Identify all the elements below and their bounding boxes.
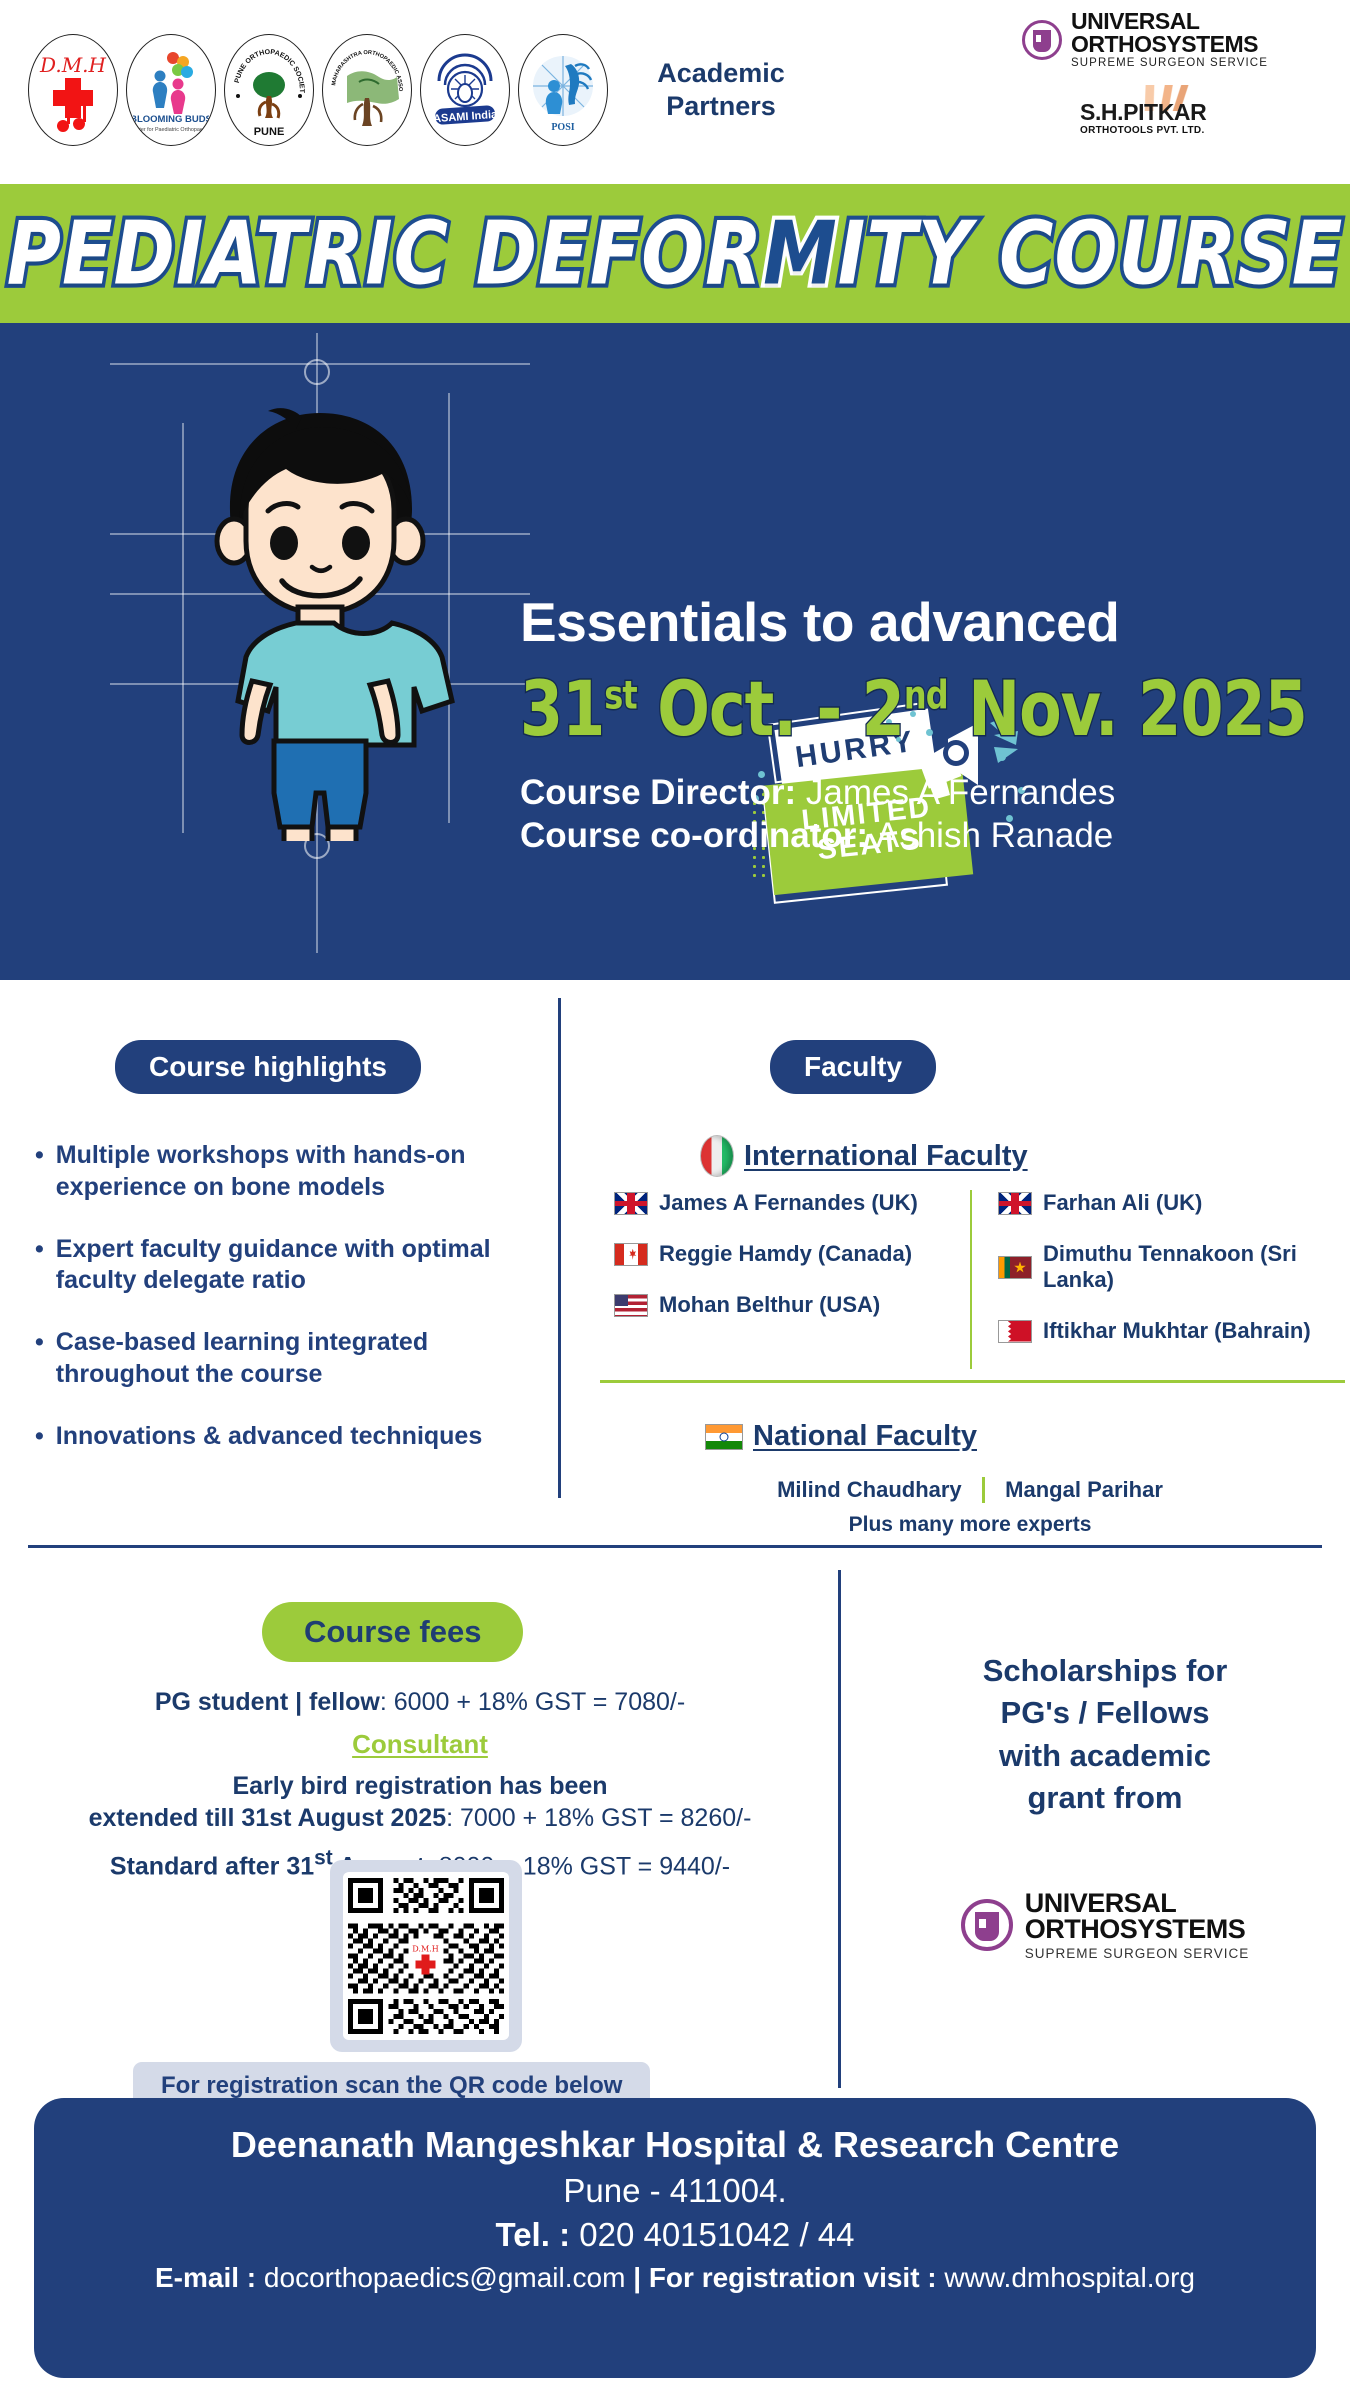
- svg-text:Center for Paediatric Orthopae: Center for Paediatric Orthopaedics: [133, 127, 209, 133]
- scholarship-text: Scholarships for PG's / Fellows with aca…: [880, 1650, 1330, 1820]
- highlight-text: Case-based learning integrated throughou…: [56, 1327, 545, 1391]
- middle-section: Course highlights • Multiple workshops w…: [0, 980, 1350, 1535]
- footer-email-value[interactable]: docorthopaedics@gmail.com: [264, 2262, 625, 2293]
- fee-line-earlybird: Early bird registration has been extende…: [20, 1770, 820, 1835]
- pitkar-logo: S.H.PITKAR ORTHOTOOLS PVT. LTD.: [1022, 85, 1322, 141]
- faculty-row: Dimuthu Tennakoon (Sri Lanka): [998, 1241, 1340, 1293]
- pune-orthopaedic-society-logo: PUNE ORTHOPAEDIC SOCIETY PUNE: [224, 34, 314, 146]
- academic-partners-label: Academic Partners: [646, 57, 796, 123]
- faculty-name: Iftikhar Mukhtar (Bahrain): [1043, 1318, 1311, 1344]
- date-sup1: st: [604, 672, 636, 718]
- posi-logo: POSI: [518, 34, 608, 146]
- footer-tel-label: Tel. :: [496, 2216, 571, 2253]
- page-title-part2: ITY COURSE: [838, 203, 1344, 304]
- academic-partners-line1: Academic: [646, 57, 796, 90]
- international-faculty-heading: International Faculty: [744, 1140, 1028, 1173]
- faculty-heading: Faculty: [770, 1040, 936, 1094]
- faculty-row: Iftikhar Mukhtar (Bahrain): [998, 1318, 1340, 1344]
- blooming-buds-logo-art: BLOOMING BUDS Center for Paediatric Orth…: [133, 42, 209, 138]
- partner-bar: D.M.H BLOOMING BUDS Center for Paediatri…: [0, 0, 1350, 180]
- national-faculty-heading-wrap: National Faculty: [705, 1420, 977, 1453]
- course-director-name: James A Fernandes: [806, 773, 1115, 812]
- universal-line1: UNIVERSAL: [1071, 10, 1268, 33]
- child-illustration: [170, 391, 470, 846]
- title-banner: PEDIATRIC DEFORMITY COURSE: [0, 184, 1350, 323]
- pune-orthopaedic-society-logo-art: PUNE ORTHOPAEDIC SOCIETY PUNE: [228, 40, 310, 140]
- universal-tagline: SUPREME SURGEON SERVICE: [1071, 57, 1268, 69]
- svg-text:BLOOMING BUDS: BLOOMING BUDS: [133, 114, 209, 125]
- maharashtra-orthopaedic-association-logo-art: MAHARASHTRA ORTHOPAEDIC ASSOCIATION: [327, 42, 407, 138]
- bullet-icon: •: [35, 1234, 44, 1298]
- fee-earlybird-label: extended till 31st August 2025: [89, 1804, 447, 1832]
- bullet-icon: •: [35, 1327, 44, 1391]
- scholarship-line1: Scholarships for: [880, 1650, 1330, 1692]
- date-month1: Oct. -: [657, 664, 862, 753]
- bullet-icon: •: [35, 1140, 44, 1204]
- fee-line-pg: PG student | fellow: 6000 + 18% GST = 70…: [20, 1686, 820, 1719]
- faculty-row: James A Fernandes (UK): [614, 1190, 970, 1216]
- international-faculty-col-left: James A Fernandes (UK) Reggie Hamdy (Can…: [600, 1190, 970, 1369]
- blooming-buds-logo: BLOOMING BUDS Center for Paediatric Orth…: [126, 34, 216, 146]
- faculty-heading-wrap: Faculty: [770, 1040, 936, 1094]
- course-coordinator-row: Course co-ordinator: Ashish Ranade: [520, 814, 1340, 857]
- course-director-row: Course Director: James A Fernandes: [520, 771, 1340, 814]
- posi-logo-art: POSI: [523, 42, 603, 138]
- footer-separator: |: [633, 2262, 641, 2293]
- footer-tel-row: Tel. : 020 40151042 / 44: [34, 2216, 1316, 2254]
- faculty-name: Reggie Hamdy (Canada): [659, 1241, 912, 1267]
- footer-city: Pune - 411004.: [34, 2172, 1316, 2210]
- highlight-text: Expert faculty guidance with optimal fac…: [56, 1234, 545, 1298]
- date-day2: 2: [862, 664, 904, 753]
- faculty-green-divider: [600, 1380, 1345, 1383]
- fees-top-divider: [28, 1545, 1322, 1548]
- date-day1: 31: [520, 664, 604, 753]
- sponsor-line2: ORTHOSYSTEMS: [1025, 1916, 1250, 1942]
- fees-vertical-divider: [838, 1570, 841, 2088]
- international-faculty-grid: James A Fernandes (UK) Reggie Hamdy (Can…: [600, 1190, 1340, 1369]
- page-title-accent: M: [763, 203, 838, 304]
- qr-code-art: D.M.H: [343, 1872, 509, 2040]
- sri-lanka-flag-icon: [998, 1256, 1032, 1279]
- faculty-row: Reggie Hamdy (Canada): [614, 1241, 970, 1267]
- sponsor-tagline: SUPREME SURGEON SERVICE: [1025, 1946, 1250, 1961]
- international-faculty-col-right: Farhan Ali (UK) Dimuthu Tennakoon (Sri L…: [970, 1190, 1340, 1369]
- course-highlights-heading-wrap: Course highlights: [115, 1040, 421, 1094]
- faculty-name: Mohan Belthur (USA): [659, 1292, 880, 1318]
- national-faculty-names: Milind Chaudhary Mangal Parihar: [600, 1477, 1340, 1503]
- bullet-icon: •: [35, 1421, 44, 1453]
- universal-orthosystems-mark-icon: [1022, 20, 1062, 60]
- highlight-text: Multiple workshops with hands-on experie…: [56, 1140, 545, 1204]
- globe-flags-icon: [700, 1135, 734, 1177]
- national-faculty-note: Plus many more experts: [600, 1513, 1340, 1537]
- fee-consultant-label: Consultant: [20, 1729, 820, 1760]
- hero-tagline: Essentials to advanced: [520, 595, 1340, 650]
- fee-earlybird-line1: Early bird registration has been: [232, 1772, 607, 1800]
- uk-flag-icon: [614, 1192, 648, 1215]
- svg-text:D.M.H: D.M.H: [412, 1944, 439, 1953]
- footer-contact-block: Deenanath Mangeshkar Hospital & Research…: [34, 2098, 1316, 2378]
- middle-divider: [558, 998, 561, 1498]
- highlight-text: Innovations & advanced techniques: [56, 1421, 482, 1453]
- highlight-item: • Case-based learning integrated through…: [35, 1327, 545, 1391]
- national-faculty-name: Mangal Parihar: [1005, 1477, 1163, 1503]
- course-highlights-heading: Course highlights: [115, 1040, 421, 1094]
- scholarship-line3: with academic: [880, 1735, 1330, 1777]
- universal-orthosystems-logo: UNIVERSAL ORTHOSYSTEMS SUPREME SURGEON S…: [1022, 10, 1322, 69]
- maharashtra-orthopaedic-association-logo: MAHARASHTRA ORTHOPAEDIC ASSOCIATION: [322, 34, 412, 146]
- dmh-logo: D.M.H: [28, 34, 118, 146]
- page-title-part1: PEDIATRIC DEFOR: [7, 203, 763, 304]
- faculty-name: Farhan Ali (UK): [1043, 1190, 1202, 1216]
- footer-email-label: E-mail :: [155, 2262, 256, 2293]
- footer-email-row: E-mail : docorthopaedics@gmail.com | For…: [34, 2262, 1316, 2294]
- sponsor-logos: UNIVERSAL ORTHOSYSTEMS SUPREME SURGEON S…: [1022, 10, 1322, 141]
- national-faculty-heading: National Faculty: [753, 1420, 977, 1453]
- scholarship-sponsor-logo: UNIVERSAL ORTHOSYSTEMS SUPREME SURGEON S…: [880, 1890, 1330, 1961]
- date-sup2: nd: [904, 672, 948, 718]
- uk-flag-icon: [998, 1192, 1032, 1215]
- course-highlights-list: • Multiple workshops with hands-on exper…: [35, 1140, 545, 1482]
- scholarship-line2: PG's / Fellows: [880, 1692, 1330, 1734]
- asami-india-logo-art: ASAMI India: [425, 41, 505, 139]
- svg-text:D.M.H: D.M.H: [39, 53, 107, 77]
- bahrain-flag-icon: [998, 1320, 1032, 1343]
- date-month2: Nov. 2025: [968, 664, 1307, 753]
- scholarship-line4: grant from: [880, 1777, 1330, 1819]
- footer-hospital-name: Deenanath Mangeshkar Hospital & Research…: [34, 2124, 1316, 2166]
- india-flag-icon: [705, 1424, 743, 1450]
- sponsor-line1: UNIVERSAL: [1025, 1890, 1250, 1916]
- faculty-row: Farhan Ali (UK): [998, 1190, 1340, 1216]
- universal-orthosystems-mark-icon: [961, 1899, 1013, 1951]
- faculty-name: Dimuthu Tennakoon (Sri Lanka): [1043, 1241, 1340, 1293]
- name-separator: [982, 1477, 986, 1503]
- international-faculty-heading-wrap: International Faculty: [700, 1135, 1028, 1177]
- faculty-row: Mohan Belthur (USA): [614, 1292, 970, 1318]
- course-director-label: Course Director:: [520, 773, 796, 812]
- child-illustration-art: [170, 391, 470, 841]
- fee-earlybird-value: : 7000 + 18% GST = 8260/-: [446, 1804, 751, 1832]
- dmh-logo-art: D.M.H: [36, 42, 110, 138]
- fee-standard-sup: st: [314, 1847, 333, 1870]
- course-dates: 31st Oct. - 2nd Nov. 2025: [520, 664, 1340, 753]
- course-coordinator-label: Course co-ordinator:: [520, 816, 868, 855]
- svg-text:PUNE: PUNE: [254, 126, 285, 138]
- hero-section: HURRY LIMITED SEATS E: [0, 323, 1350, 980]
- usa-flag-icon: [614, 1294, 648, 1317]
- pitkar-line1: S.H.PITKAR: [1080, 99, 1206, 126]
- qr-code-card[interactable]: D.M.H: [330, 1860, 522, 2052]
- footer-web-value[interactable]: www.dmhospital.org: [944, 2262, 1195, 2293]
- page-title: PEDIATRIC DEFORMITY COURSE: [7, 203, 1344, 304]
- hero-copy: Essentials to advanced 31st Oct. - 2nd N…: [520, 595, 1340, 858]
- pitkar-line2: ORTHOTOOLS PVT. LTD.: [1080, 125, 1205, 136]
- course-fees-heading: Course fees: [262, 1602, 523, 1662]
- svg-text:POSI: POSI: [551, 122, 574, 133]
- course-coordinator-name: Ashish Ranade: [876, 816, 1113, 855]
- highlight-item: • Expert faculty guidance with optimal f…: [35, 1234, 545, 1298]
- qr-code-image[interactable]: D.M.H: [343, 1872, 509, 2040]
- fees-section: Course fees PG student | fellow: 6000 + …: [0, 1560, 1350, 2120]
- national-faculty-name: Milind Chaudhary: [777, 1477, 962, 1503]
- highlight-item: • Multiple workshops with hands-on exper…: [35, 1140, 545, 1204]
- asami-india-logo: ASAMI India: [420, 34, 510, 146]
- faculty-name: James A Fernandes (UK): [659, 1190, 918, 1216]
- course-staff: Course Director: James A Fernandes Cours…: [520, 771, 1340, 858]
- canada-flag-icon: [614, 1243, 648, 1266]
- footer-web-label: For registration visit :: [649, 2262, 937, 2293]
- fee-pg-value: : 6000 + 18% GST = 7080/-: [380, 1688, 685, 1716]
- highlight-item: • Innovations & advanced techniques: [35, 1421, 545, 1453]
- academic-partners-line2: Partners: [646, 90, 796, 123]
- universal-line2: ORTHOSYSTEMS: [1071, 33, 1268, 56]
- fee-pg-label: PG student | fellow: [155, 1688, 380, 1716]
- partner-logo-strip: D.M.H BLOOMING BUDS Center for Paediatri…: [28, 34, 608, 146]
- fee-standard-label-a: Standard after 31: [110, 1852, 314, 1880]
- footer-tel-value: 020 40151042 / 44: [579, 2216, 854, 2253]
